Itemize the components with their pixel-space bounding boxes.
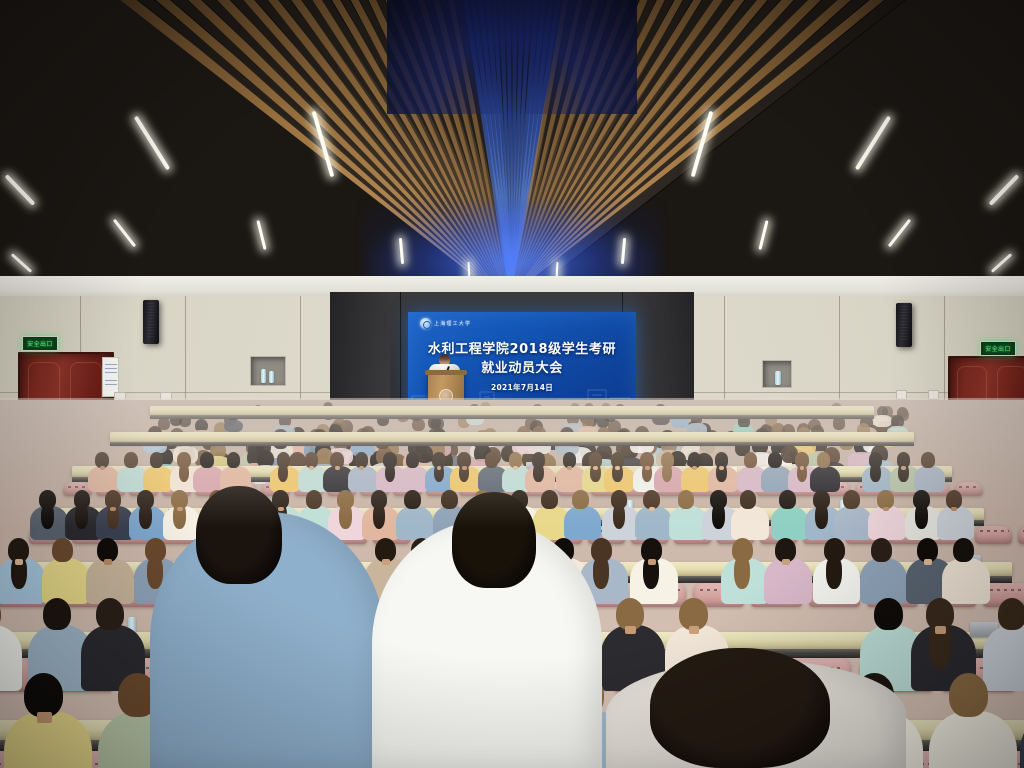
audience-member-neck bbox=[382, 559, 390, 565]
bottle bbox=[775, 371, 781, 385]
audience-member-hair bbox=[826, 556, 842, 589]
audience-member-neck bbox=[37, 712, 51, 722]
audience-member-hair bbox=[339, 504, 352, 528]
audience-member-neck bbox=[645, 466, 650, 470]
foreground-student-white-head bbox=[452, 492, 536, 588]
university-logo-text: 上海理工大学 bbox=[434, 320, 471, 327]
audience-member-body bbox=[564, 506, 601, 540]
audience-member-hair bbox=[533, 464, 543, 483]
ceiling-tube-light bbox=[888, 219, 911, 248]
audience-member-head bbox=[874, 598, 903, 630]
wall-socket[interactable] bbox=[928, 390, 939, 400]
audience-member-body bbox=[983, 625, 1024, 691]
audience-member-head bbox=[306, 490, 323, 509]
audience-member-neck bbox=[689, 626, 699, 634]
audience-member-head bbox=[24, 673, 63, 717]
ceiling-tube-light bbox=[399, 238, 404, 264]
audience-member-head bbox=[843, 490, 860, 509]
audience-member-head bbox=[96, 598, 125, 630]
audience-member-neck bbox=[104, 559, 112, 565]
audience-member-body bbox=[942, 558, 990, 604]
audience-member-neck bbox=[625, 626, 635, 634]
audience-member-hair bbox=[915, 504, 928, 528]
wall-socket[interactable] bbox=[896, 390, 907, 400]
audience-member-head bbox=[406, 452, 420, 467]
audience-member-neck bbox=[649, 507, 655, 511]
bottle bbox=[261, 369, 266, 383]
audience-member-head bbox=[817, 452, 831, 467]
audience-member-hair bbox=[75, 504, 88, 528]
audience-member-neck bbox=[593, 466, 598, 470]
audience-member-hair bbox=[385, 464, 395, 483]
audience-member-neck bbox=[924, 559, 932, 565]
audience-member-head bbox=[871, 538, 892, 562]
exit-sign-label: 安全出口 bbox=[985, 344, 1011, 353]
audience-member-head bbox=[541, 490, 558, 509]
ceiling-tube-light bbox=[758, 220, 768, 250]
seat-stud-row bbox=[988, 589, 1024, 591]
audience-member-hair bbox=[139, 504, 152, 528]
audience-member-head bbox=[572, 490, 589, 509]
audience-member-hair bbox=[373, 504, 386, 528]
audience-member-neck bbox=[800, 466, 805, 470]
audience-member-head bbox=[768, 452, 782, 467]
audience-member-head bbox=[43, 598, 72, 630]
audience-member-neck bbox=[782, 559, 790, 565]
seat-stud-row bbox=[66, 486, 89, 488]
exit-sign-icon: 安全出口 bbox=[22, 336, 58, 351]
foreground-student-blue-head bbox=[196, 486, 282, 584]
audience-member-head bbox=[921, 452, 935, 467]
audience-member-head bbox=[441, 490, 458, 509]
audience-member-head bbox=[679, 598, 708, 630]
audience-member-head bbox=[404, 490, 421, 509]
ceiling-vanishing-point bbox=[387, 0, 637, 114]
audience-member-body bbox=[764, 558, 812, 604]
audience-member-neck bbox=[462, 466, 467, 470]
audience-member-body bbox=[868, 506, 905, 540]
ceiling-tube-light bbox=[621, 238, 626, 264]
audience-member-head bbox=[953, 538, 974, 562]
audience-member-body bbox=[937, 506, 974, 540]
audience-member-body bbox=[143, 466, 174, 492]
audience-member-hair bbox=[734, 556, 750, 589]
audience-member-neck bbox=[567, 466, 572, 470]
audience-member-body bbox=[771, 506, 808, 540]
desk-front-panel bbox=[150, 415, 874, 419]
audience-member-hair bbox=[712, 504, 725, 528]
audience-member-neck bbox=[615, 466, 620, 470]
auditorium-seat[interactable] bbox=[975, 526, 1013, 544]
audience-member-hair bbox=[815, 504, 828, 528]
audience-member-neck bbox=[309, 466, 314, 470]
audience-member-body bbox=[860, 558, 908, 604]
audience-member-body bbox=[731, 506, 768, 540]
seat-stud-row bbox=[957, 486, 980, 488]
audience-member-head bbox=[949, 673, 988, 717]
audience-member-neck bbox=[883, 507, 889, 511]
audience-member-body bbox=[635, 506, 672, 540]
audience-member-body bbox=[914, 466, 945, 492]
audience-member-hair bbox=[179, 464, 189, 483]
university-emblem-icon bbox=[420, 318, 431, 329]
ceiling-tube-light bbox=[989, 174, 1020, 206]
left-wall-speaker bbox=[143, 300, 159, 344]
audience-member-head bbox=[998, 598, 1024, 630]
audience-member-neck bbox=[719, 466, 724, 470]
audience-member-head bbox=[150, 452, 164, 467]
audience-member-body bbox=[42, 558, 90, 604]
audience-member-hair bbox=[593, 556, 609, 589]
ceiling-wood-baffle bbox=[0, 0, 1024, 300]
audience-member-head bbox=[678, 490, 695, 509]
audience-member-head bbox=[485, 452, 499, 467]
audience-member-neck bbox=[935, 626, 945, 634]
ceiling-tube-light bbox=[991, 253, 1012, 273]
seat-stud-row bbox=[0, 763, 2, 765]
right-wall-niche bbox=[762, 360, 792, 388]
audience-member-hair bbox=[613, 504, 626, 528]
lecture-hall-photo: 安全出口 安全出口 bbox=[0, 0, 1024, 768]
desk-row bbox=[150, 406, 874, 415]
audience-member-neck bbox=[692, 466, 697, 470]
auditorium-seat[interactable] bbox=[1018, 526, 1024, 544]
audience-member-neck bbox=[901, 466, 906, 470]
audience-member-head bbox=[779, 490, 796, 509]
audience-member-body bbox=[810, 466, 841, 492]
audience-member-head bbox=[227, 452, 241, 467]
ceiling-tube-light bbox=[5, 174, 36, 206]
audience-member-hair bbox=[41, 504, 54, 528]
audience-member-body bbox=[834, 506, 871, 540]
bottle bbox=[269, 371, 274, 383]
audience-member-head bbox=[740, 490, 757, 509]
audience-member-neck bbox=[648, 559, 656, 565]
audience-member-neck bbox=[278, 507, 284, 511]
desk-row bbox=[110, 432, 914, 442]
exit-sign-icon: 安全出口 bbox=[980, 341, 1016, 356]
audience-member-neck bbox=[513, 466, 518, 470]
audience-member-head bbox=[52, 538, 73, 562]
audience-member-neck bbox=[15, 559, 23, 565]
ceiling-tube-light bbox=[134, 116, 170, 171]
left-wall-niche bbox=[250, 356, 286, 386]
audience-member-neck bbox=[951, 507, 957, 511]
podium-top bbox=[425, 370, 467, 375]
seat-stud-row bbox=[978, 530, 1008, 532]
audience-member-body bbox=[224, 420, 243, 433]
foreground-student-near-head bbox=[650, 648, 830, 768]
audience-seating bbox=[0, 400, 1024, 768]
ceiling-tube-light bbox=[256, 220, 266, 250]
right-wall-speaker bbox=[896, 303, 912, 347]
audience-member-head bbox=[124, 452, 138, 467]
university-logo: 上海理工大学 bbox=[420, 318, 471, 329]
ceiling-tube-light bbox=[113, 219, 136, 248]
audience-member-neck bbox=[177, 507, 183, 511]
audience-member-neck bbox=[359, 466, 364, 470]
audience-member-hair bbox=[870, 464, 880, 483]
ceiling-tube-light bbox=[11, 253, 32, 273]
audience-member-neck bbox=[335, 466, 340, 470]
audience-member-body bbox=[873, 415, 891, 427]
audience-member-body bbox=[396, 506, 433, 540]
audience-member-neck bbox=[100, 466, 105, 470]
audience-member-head bbox=[200, 452, 214, 467]
audience-member-head bbox=[616, 598, 645, 630]
audience-member-head bbox=[744, 452, 758, 467]
wall-notice-poster bbox=[102, 357, 119, 397]
ceiling-tube-light bbox=[855, 116, 891, 171]
desk-front-panel bbox=[110, 442, 914, 446]
audience-member-neck bbox=[437, 466, 442, 470]
exit-sign-label: 安全出口 bbox=[27, 339, 53, 348]
